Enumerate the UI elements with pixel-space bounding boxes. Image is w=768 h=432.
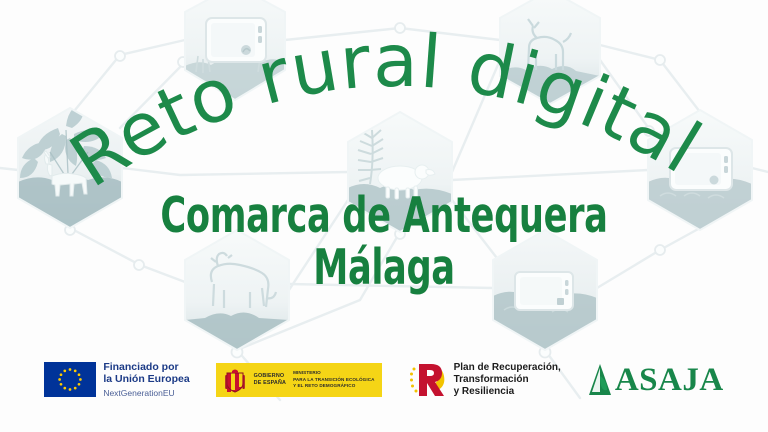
- subtitle-province: Málaga: [77, 244, 691, 292]
- hex-tablet-top-left: [185, 0, 285, 100]
- hex-deer-top-right: [500, 0, 600, 104]
- european-union-funding-logo: Financiado por la Unión Europea NextGene…: [44, 361, 189, 398]
- plan-de-recuperacion-logo: Plan de Recuperación, Transformación y R…: [408, 362, 561, 399]
- funding-logo-strip: Financiado por la Unión Europea NextGene…: [0, 352, 768, 408]
- eu-line-3: NextGenerationEU: [103, 388, 189, 399]
- eu-line-2: la Unión Europea: [103, 373, 189, 385]
- plan-logo-text: Plan de Recuperación, Transformación y R…: [454, 362, 561, 399]
- gobierno-line-2: DE ESPAÑA: [254, 380, 286, 387]
- asaja-wordmark: ASAJA: [615, 364, 724, 397]
- poster-canvas: Reto rural digital Comarca de Antequera …: [0, 0, 768, 432]
- asaja-logo: ASAJA: [587, 362, 724, 398]
- ministerio-line-3: Y EL RETO DEMOGRÁFICO: [293, 383, 375, 389]
- gobierno-line-1: GOBIERNO: [254, 373, 286, 380]
- eu-flag-stars-icon: [44, 362, 96, 397]
- recovery-plan-r-icon: [408, 362, 448, 398]
- eu-line-1: Financiado por: [103, 361, 189, 373]
- ministerio-label-block: MINISTERIO PARA LA TRANSICIÓN ECOLÓGICA …: [293, 370, 375, 389]
- eu-logo-text: Financiado por la Unión Europea NextGene…: [103, 361, 189, 398]
- plan-line-1: Plan de Recuperación,: [454, 362, 561, 374]
- gobierno-label-block: GOBIERNO DE ESPAÑA: [254, 373, 286, 388]
- spain-coat-of-arms-icon: [223, 367, 247, 393]
- subtitle-region: Comarca de Antequera: [77, 192, 691, 240]
- gobierno-de-espana-logo: GOBIERNO DE ESPAÑA MINISTERIO PARA LA TR…: [216, 363, 382, 397]
- subtitle-block: Comarca de Antequera Málaga: [0, 192, 768, 292]
- plan-line-2: Transformación: [454, 374, 561, 386]
- plan-line-3: y Resiliencia: [454, 386, 561, 398]
- asaja-leaf-icon: [587, 362, 613, 398]
